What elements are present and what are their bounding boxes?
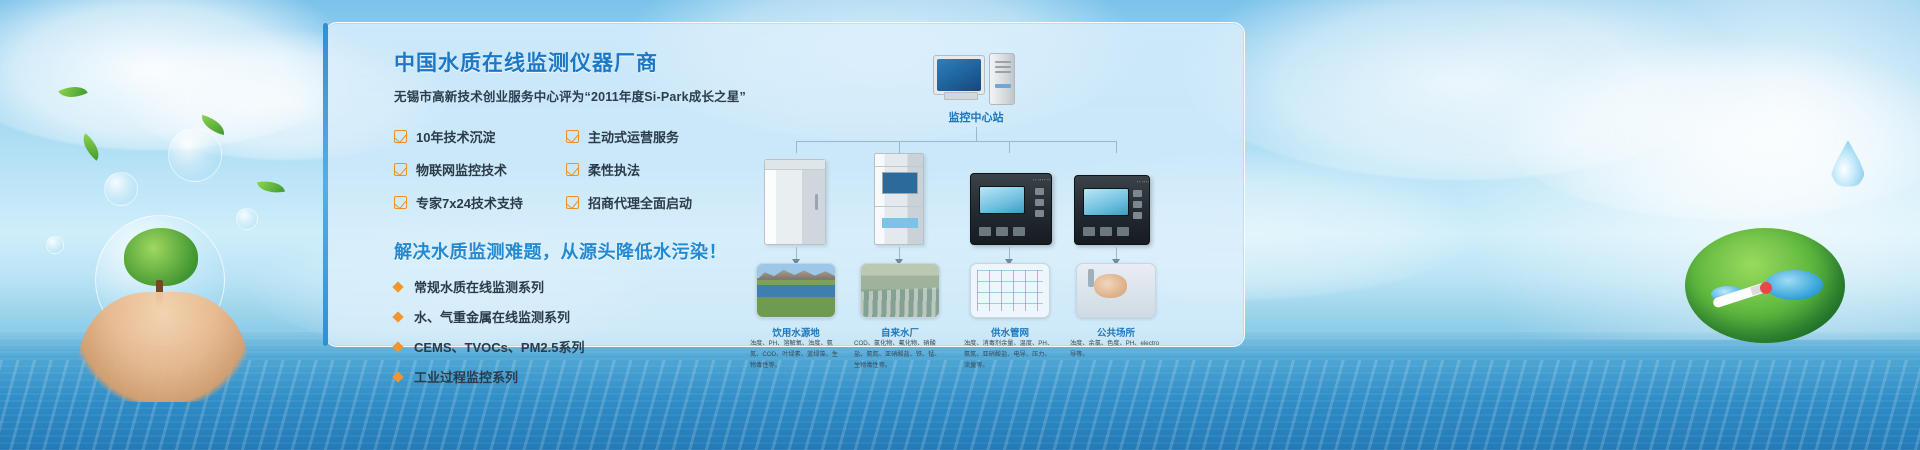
checklist-label: 专家7x24技术支持 [416,193,523,212]
check-icon [566,196,579,209]
application-card[interactable] [756,263,836,318]
list-item-label: CEMS、TVOCs、PM2.5系列 [414,337,584,356]
cloud [1180,0,1740,180]
bubble [168,128,222,182]
checklist-label: 10年技术沉淀 [416,127,495,146]
device-row: ·· ···· ·· ·· ···· ·· [756,145,1226,245]
check-icon [394,130,407,143]
checklist-item: 物联网监控技术 [394,160,566,179]
feature-checklist: 10年技术沉淀 主动式运营服务 物联网监控技术 柔性执法 专家7x24技术支持 … [394,127,794,212]
water-plant-photo [861,264,939,317]
list-item-label: 常规水质在线监测系列 [414,277,544,296]
system-diagram: 监控中心站 ·· ···· ·· ·· ···· ·· [756,35,1226,345]
list-item: 常规水质在线监测系列 [394,277,794,296]
device-rack-icon [874,153,924,245]
list-item-label: 工业过程监控系列 [414,367,518,386]
computer-monitor-icon [933,55,985,95]
checklist-label: 物联网监控技术 [416,160,507,179]
diamond-bullet-icon [392,341,403,352]
check-icon [394,196,407,209]
card-params: 浊度、消毒剂余量、温度、PH、氨氮、亚硝酸盐、电导、压力、流量等。 [964,339,1056,372]
hands-illustration [78,292,248,402]
river-photo [757,264,835,317]
leaf-icon [77,133,106,160]
leaf-icon [257,178,285,196]
diamond-bullet-icon [392,311,403,322]
section-heading: 解决水质监测难题，从源头降低水污染！ [394,238,794,264]
bubble [46,236,64,254]
check-icon [394,163,407,176]
device-analyzer-icon: ·· ···· ·· [1074,175,1150,245]
monitoring-center-illustration [933,53,1019,105]
bubble [236,208,258,230]
card-params: 浊度、PH、溶解氧、浊度、氨氮、COD、叶绿素、蓝绿藻、生物毒性等。 [750,339,842,372]
diamond-bullet-icon [392,371,403,382]
checklist-label: 主动式运营服务 [588,127,679,146]
leaf-icon [58,80,87,104]
bubble [104,172,138,206]
list-item: 水、气重金属在线监测系列 [394,307,794,326]
diamond-bullet-icon [392,281,403,292]
server-tower-icon [989,53,1015,105]
connector-line [796,141,1116,142]
pipe-network-photo [971,264,1049,317]
cloud [0,0,360,150]
checklist-label: 招商代理全面启动 [588,193,692,212]
checklist-item: 10年技术沉淀 [394,127,566,146]
check-icon [566,163,579,176]
public-tap-photo [1077,264,1155,317]
cloud [1500,40,1920,220]
checklist-label: 柔性执法 [588,160,640,179]
device-analyzer-icon: ·· ···· ·· [970,173,1052,245]
list-item-label: 水、气重金属在线监测系列 [414,307,570,326]
banner-panel: 中国水质在线监测仪器厂商 无锡市高新技术创业服务中心评为“2011年度Si-Pa… [325,22,1245,347]
check-icon [566,130,579,143]
connector-line [976,127,977,141]
device-cabinet-icon [764,159,826,245]
card-title: 公共场所 [1051,325,1181,339]
card-params: 浊度、余氯、色度、PH、electro导等。 [1070,339,1162,361]
center-node-label: 监控中心站 [876,109,1076,125]
water-droplet-icon [1831,140,1865,188]
card-params: COD、氯化物、氟化物、硝酸盐、氨氮、亚硝酸盐、铁、锰、生物毒性等。 [854,339,946,372]
list-item: 工业过程监控系列 [394,367,794,386]
application-card[interactable] [970,263,1050,318]
list-item: CEMS、TVOCs、PM2.5系列 [394,337,794,356]
application-card[interactable] [860,263,940,318]
page-subtitle: 无锡市高新技术创业服务中心评为“2011年度Si-Park成长之星” [394,86,794,105]
checklist-item: 专家7x24技术支持 [394,193,566,212]
page-title: 中国水质在线监测仪器厂商 [394,47,794,77]
application-card[interactable] [1076,263,1156,318]
